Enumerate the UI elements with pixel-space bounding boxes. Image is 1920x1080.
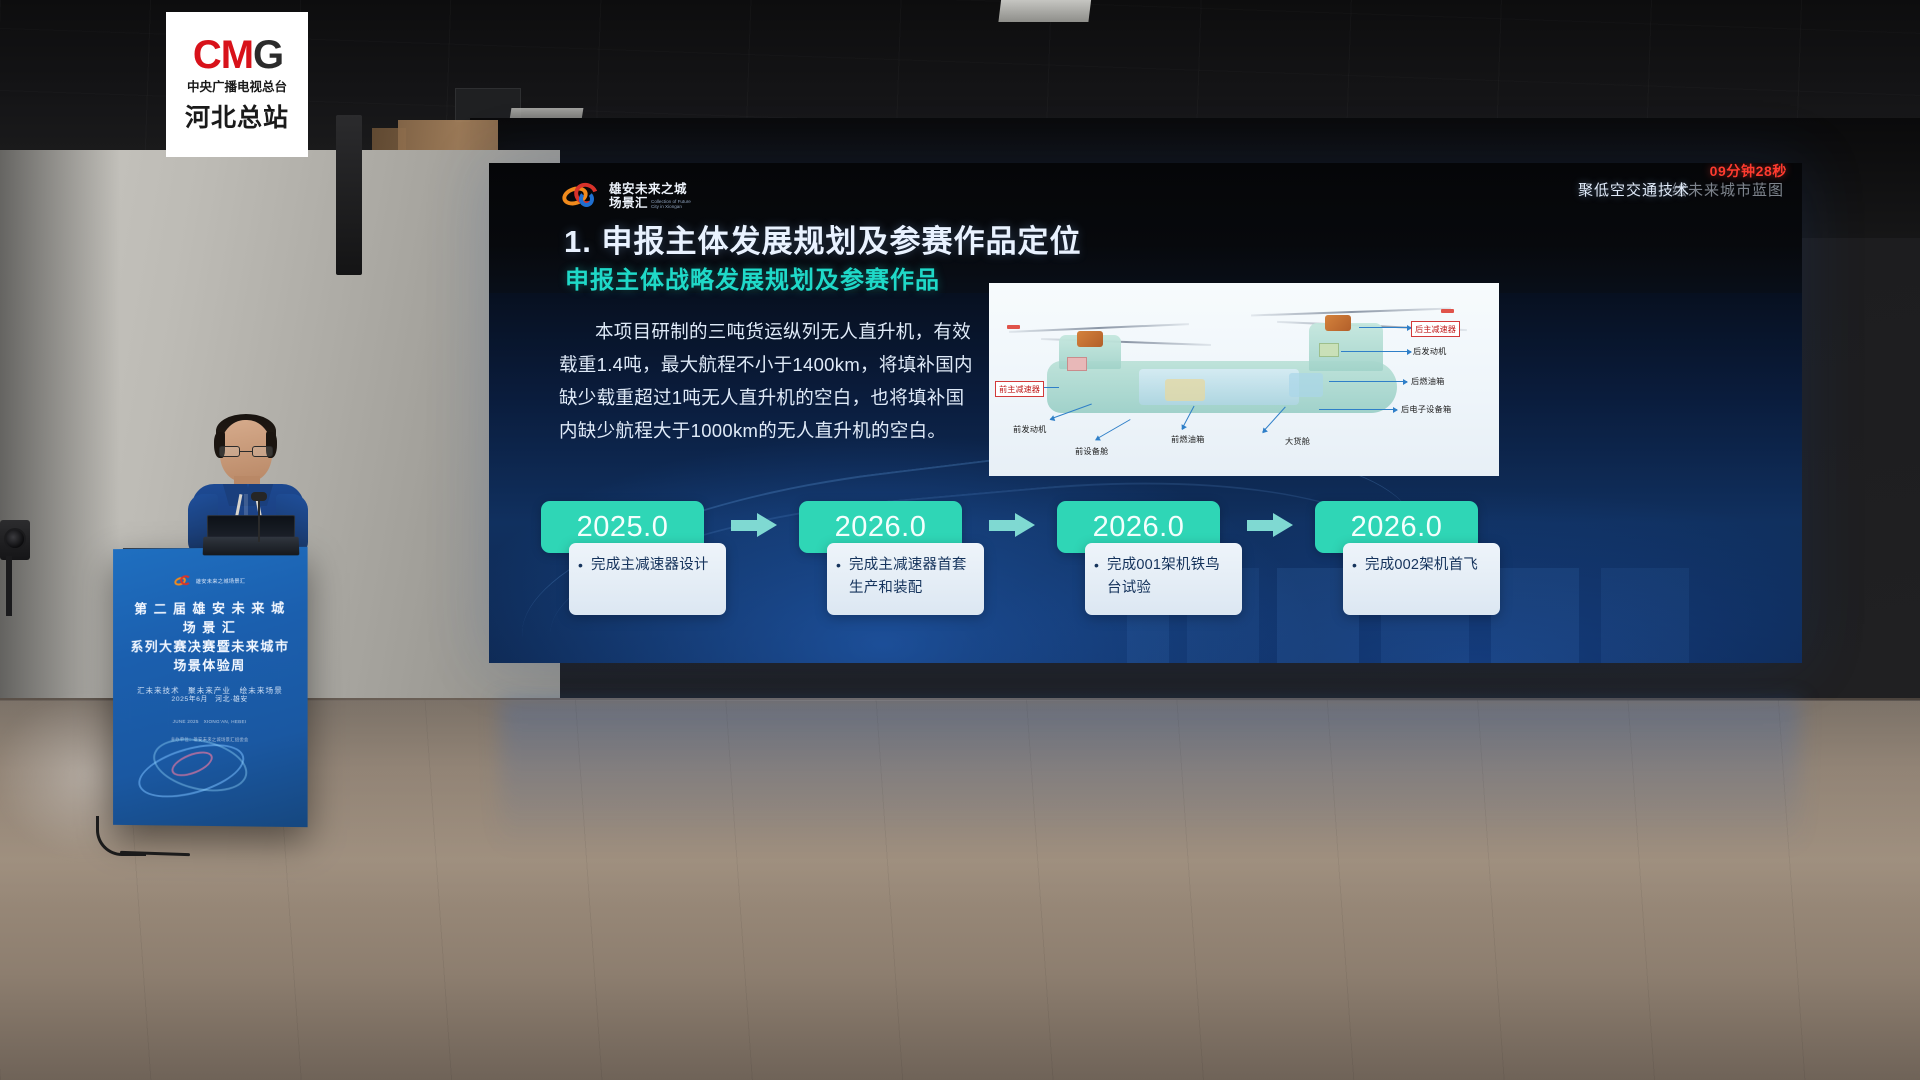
microphone-stand [258, 498, 260, 542]
helicopter-diagram: 后主减速器 后发动机 后燃油箱 后电子设备箱 前主减速器 前发动机 前设备舱 前… [989, 283, 1499, 476]
broadcaster-station-cn: 河北总站 [185, 98, 289, 134]
podium-title-line1: 第 二 届 雄 安 未 来 城 场 景 汇 [127, 598, 294, 637]
rotor-blade-tip-right [1441, 309, 1454, 313]
broadcaster-name-cn: 中央广播电视总台 [187, 76, 287, 95]
ceiling-light [998, 0, 1091, 22]
timeline-milestone-2: 2026.0 完成主减速器首套生产和装配 [799, 501, 962, 553]
callout-arrow-front-equipment-bay [1095, 419, 1130, 440]
microphone-head [251, 492, 267, 501]
camera-lens [4, 528, 26, 550]
diagram-label-rear-main-gearbox: 后主减速器 [1411, 321, 1460, 337]
diagram-label-front-equipment-bay: 前设备舱 [1075, 445, 1109, 457]
event-name-en-line2: City in Xiongan [651, 204, 691, 210]
podium-event-logo: 雄安未来之城场景汇 [127, 573, 294, 588]
front-rotor-hub [1077, 331, 1103, 347]
cmg-wordmark: CMG [191, 35, 283, 75]
podium-date: 2025年6月 河北·雄安 [113, 694, 308, 705]
timeline-card-text-1: 完成主减速器设计 [578, 554, 717, 577]
slide-header-tag-secondary: 绘未来城市蓝图 [1672, 179, 1784, 200]
diagram-label-rear-fuel-tank: 后燃油箱 [1411, 375, 1445, 387]
rear-rotor-hub [1325, 315, 1351, 331]
timeline-milestone-1: 2025.0 完成主减速器设计 [541, 501, 704, 553]
diagram-label-front-fuel-tank: 前燃油箱 [1171, 433, 1205, 445]
slide-event-logo-text: 雄安未来之城 场景汇 Collection of Future City in … [609, 182, 691, 210]
callout-arrow-rear-fuel [1329, 381, 1407, 382]
timeline-arrow-3 [1247, 513, 1293, 537]
presentation-screen: 雄安未来之城 场景汇 Collection of Future City in … [489, 163, 1802, 663]
podium-infinity-ribbon-icon [174, 574, 192, 587]
infinity-ribbon-icon [562, 181, 602, 211]
helicopter-cargo-bay [1139, 369, 1299, 405]
wall-speaker [336, 115, 362, 275]
event-name-line1: 雄安未来之城 [609, 182, 691, 196]
timeline-arrow-1 [731, 513, 777, 537]
podium: 雄安未来之城场景汇 第 二 届 雄 安 未 来 城 场 景 汇 系列大赛决赛暨未… [113, 547, 308, 827]
cmg-g-letter: G [253, 33, 283, 77]
timeline-card-2: 完成主减速器首套生产和装配 [827, 543, 984, 615]
slide-subtitle: 申报主体战略发展规划及参赛作品 [565, 260, 940, 295]
camera-arm [6, 556, 12, 616]
cmg-cm-letters: CM [193, 33, 253, 77]
timeline-milestone-3: 2026.0 完成001架机铁鸟台试验 [1057, 501, 1220, 553]
presenter-glasses [219, 446, 273, 457]
timeline-milestone-4: 2026.0 完成002架机首飞 [1315, 501, 1478, 553]
timeline-arrow-2 [989, 513, 1035, 537]
slide-paragraph: 本项目研制的三吨货运纵列无人直升机，有效载重1.4吨，最大航程不小于1400km… [559, 315, 979, 447]
diagram-label-cargo-bay: 大货舱 [1285, 435, 1310, 447]
rear-fuel-tank-part [1289, 373, 1323, 397]
timeline-card-text-4: 完成002架机首飞 [1352, 554, 1491, 577]
timeline-card-text-3: 完成001架机铁鸟台试验 [1094, 554, 1233, 600]
timeline-card-3: 完成001架机铁鸟台试验 [1085, 543, 1242, 615]
callout-arrow-rear-avionics [1319, 409, 1397, 410]
event-name-line2: 场景汇 [609, 196, 648, 210]
slide-title: 1. 申报主体发展规划及参赛作品定位 [564, 216, 1081, 261]
laptop-base [203, 537, 300, 556]
podium-graphic: 雄安未来之城场景汇 第 二 届 雄 安 未 来 城 场 景 汇 系列大赛决赛暨未… [113, 547, 308, 827]
callout-arrow-rear-gearbox [1359, 327, 1411, 328]
timeline-card-1: 完成主减速器设计 [569, 543, 726, 615]
development-timeline: 2025.0 完成主减速器设计 2026.0 完成主减速器首套生产和装配 202… [541, 501, 1756, 641]
diagram-label-rear-avionics-bay: 后电子设备箱 [1401, 403, 1451, 415]
slide-canvas: 雄安未来之城 场景汇 Collection of Future City in … [489, 163, 1802, 663]
podium-brand-text: 雄安未来之城场景汇 [196, 576, 245, 584]
diagram-label-rear-engine: 后发动机 [1413, 345, 1447, 357]
diagram-label-front-engine: 前发动机 [1013, 423, 1047, 435]
callout-arrow-rear-engine [1341, 351, 1411, 352]
podium-title-line2: 系列大赛决赛暨未来城市场景体验周 [127, 637, 294, 675]
slide-paragraph-text: 本项目研制的三吨货运纵列无人直升机，有效载重1.4吨，最大航程不小于1400km… [559, 321, 973, 441]
rotor-blade-tip-left [1007, 325, 1020, 329]
timeline-card-4: 完成002架机首飞 [1343, 543, 1500, 615]
slide-event-logo: 雄安未来之城 场景汇 Collection of Future City in … [562, 181, 691, 211]
podium-ribbon-decoration [131, 730, 281, 801]
front-fuel-tank-part [1165, 379, 1205, 401]
broadcaster-logo: CMG 中央广播电视总台 河北总站 [166, 12, 308, 157]
rear-rotor-blade-1 [1251, 308, 1451, 317]
diagram-label-front-main-gearbox: 前主减速器 [995, 381, 1044, 397]
presentation-room-scene: CMG 中央广播电视总台 河北总站 雄安未来之城 场景汇 [0, 0, 1920, 1080]
timeline-card-text-2: 完成主减速器首套生产和装配 [836, 554, 975, 600]
laptop-screen [207, 515, 295, 539]
podium-date-en: JUNE 2025 XIONG'AN, HEBEI [113, 718, 308, 727]
rear-gearbox-part [1319, 343, 1339, 357]
front-gearbox-part [1067, 357, 1087, 371]
